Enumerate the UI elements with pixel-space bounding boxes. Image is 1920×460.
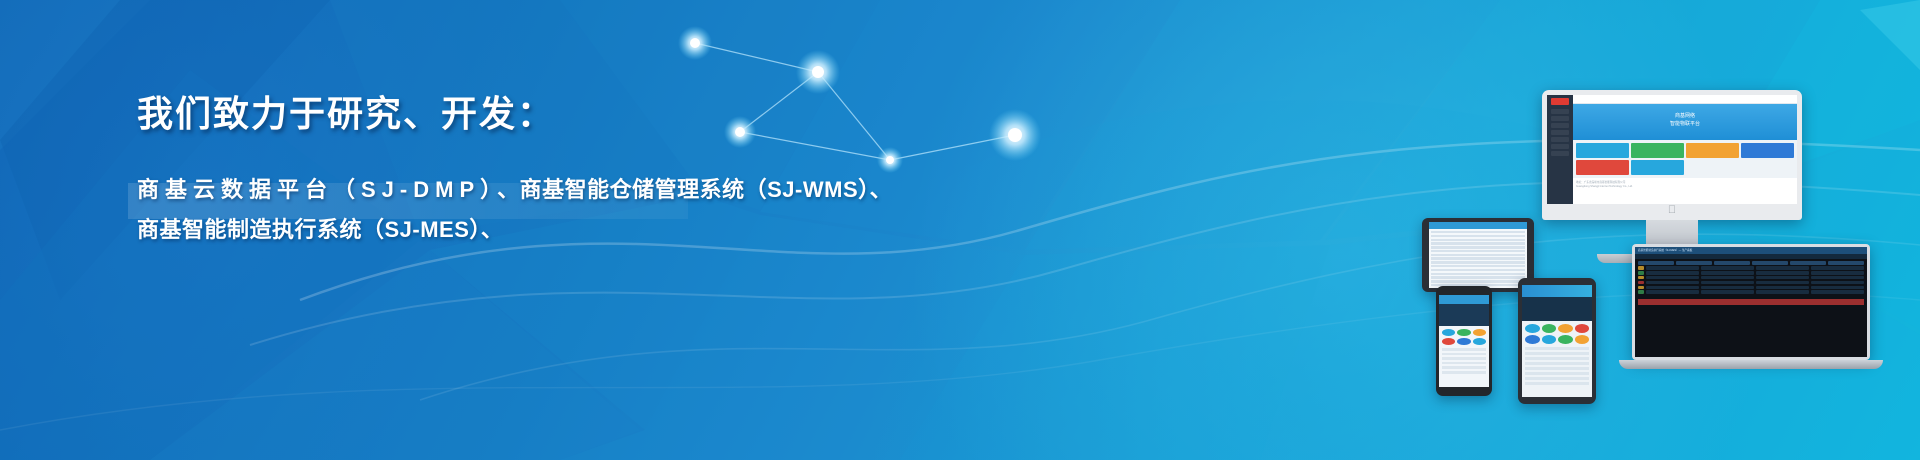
product-line-1: 商基云数据平台（SJ-DMP）、商基智能仓储管理系统（SJ-WMS）、 bbox=[137, 170, 967, 210]
phone-icon-grid bbox=[1439, 326, 1489, 348]
sidebar-item bbox=[1551, 144, 1569, 149]
imac-hero-subtitle: 智能物联平台 bbox=[1573, 120, 1797, 128]
laptop-screen: 商基智能制造执行系统（SJ-MES）— 生产看板 bbox=[1635, 247, 1867, 357]
app-icon bbox=[1542, 324, 1557, 333]
list-item bbox=[1431, 235, 1525, 237]
page-title: 我们致力于研究、开发： bbox=[137, 92, 967, 136]
laptop-titlebar: 商基智能制造执行系统（SJ-MES）— 生产看板 bbox=[1635, 247, 1867, 254]
app-icon bbox=[1473, 338, 1486, 345]
list-item bbox=[1431, 239, 1525, 241]
table-cell bbox=[1756, 271, 1809, 274]
imac-footer-en: Guangdong Shangji Internet Technology Co… bbox=[1576, 185, 1794, 189]
table-cell bbox=[1701, 276, 1754, 279]
status-badge bbox=[1638, 276, 1644, 279]
table-header-cell bbox=[1714, 261, 1750, 265]
table-cell bbox=[1701, 286, 1754, 289]
table-header-cell bbox=[1752, 261, 1788, 265]
list-item bbox=[1442, 362, 1486, 365]
imac-tile bbox=[1686, 143, 1739, 158]
table-header-cell bbox=[1676, 261, 1712, 265]
table-cell bbox=[1646, 281, 1699, 284]
table-cell bbox=[1811, 266, 1864, 269]
table-header-cell bbox=[1828, 261, 1864, 265]
status-badge bbox=[1638, 266, 1644, 269]
list-item bbox=[1431, 254, 1525, 256]
imac-sidebar bbox=[1547, 95, 1573, 204]
phone-list bbox=[1439, 348, 1489, 374]
sidebar-item bbox=[1551, 137, 1569, 142]
list-item bbox=[1431, 276, 1525, 278]
tablet-landscape-header bbox=[1429, 222, 1527, 229]
sidebar-item bbox=[1551, 116, 1569, 121]
list-item bbox=[1525, 372, 1589, 375]
table-row bbox=[1638, 281, 1864, 284]
table-cell bbox=[1756, 276, 1809, 279]
app-icon bbox=[1457, 329, 1470, 336]
list-item bbox=[1442, 371, 1486, 374]
imac-mockup: 商基网络 智能物联平台 bbox=[1542, 90, 1802, 263]
imac-tile-grid bbox=[1573, 140, 1797, 178]
imac-screen: 商基网络 智能物联平台 bbox=[1547, 95, 1797, 204]
phone-header bbox=[1439, 295, 1489, 304]
imac-hero-title: 商基网络 bbox=[1573, 112, 1797, 120]
laptop-mockup: 商基智能制造执行系统（SJ-MES）— 生产看板 bbox=[1632, 244, 1870, 369]
laptop-alert-bar bbox=[1638, 299, 1864, 305]
list-item bbox=[1525, 367, 1589, 370]
list-item bbox=[1431, 257, 1525, 259]
list-item bbox=[1442, 353, 1486, 356]
banner-copy: 我们致力于研究、开发： 商基云数据平台（SJ-DMP）、商基智能仓储管理系统（S… bbox=[137, 92, 967, 250]
imac-footer: 地址：广东省深圳市商基智能科技有限公司 Guangdong Shangji In… bbox=[1573, 178, 1797, 204]
table-row bbox=[1638, 286, 1864, 289]
tablet-portrait-hero bbox=[1522, 297, 1592, 321]
product-line-1-lead: 商基云数据平台（SJ-DMP） bbox=[137, 177, 497, 202]
product-line-1-rest: 、商基智能仓储管理系统（SJ-WMS）、 bbox=[497, 177, 892, 202]
list-item bbox=[1525, 382, 1589, 385]
tablet-portrait-list bbox=[1522, 347, 1592, 385]
list-item bbox=[1431, 280, 1525, 282]
table-cell bbox=[1811, 271, 1864, 274]
tablet-portrait-screen bbox=[1522, 285, 1592, 397]
status-badge bbox=[1638, 271, 1644, 274]
imac-main: 商基网络 智能物联平台 bbox=[1573, 95, 1797, 204]
hero-banner: 我们致力于研究、开发： 商基云数据平台（SJ-DMP）、商基智能仓储管理系统（S… bbox=[0, 0, 1920, 460]
list-item bbox=[1525, 377, 1589, 380]
imac-topbar bbox=[1573, 95, 1797, 104]
table-cell bbox=[1646, 290, 1699, 293]
imac-tile bbox=[1741, 143, 1794, 158]
table-row bbox=[1638, 266, 1864, 269]
tablet-portrait-mockup bbox=[1518, 278, 1596, 404]
device-mockup-cluster: 商基网络 智能物联平台 bbox=[1332, 40, 1892, 460]
table-cell bbox=[1811, 290, 1864, 293]
app-icon bbox=[1558, 324, 1573, 333]
imac-tile-empty bbox=[1686, 160, 1739, 175]
app-icon bbox=[1525, 335, 1540, 344]
imac-bezel: 商基网络 智能物联平台 bbox=[1542, 90, 1802, 220]
app-icon bbox=[1542, 335, 1557, 344]
table-cell bbox=[1646, 286, 1699, 289]
apple-logo-icon:  bbox=[1547, 205, 1797, 216]
phone-screen bbox=[1439, 295, 1489, 387]
list-item bbox=[1525, 347, 1589, 350]
imac-tile-empty bbox=[1741, 160, 1794, 175]
tablet-landscape-screen bbox=[1429, 222, 1527, 288]
table-cell bbox=[1701, 271, 1754, 274]
imac-tile bbox=[1576, 143, 1629, 158]
product-line-2: 商基智能制造执行系统（SJ-MES）、 bbox=[137, 210, 967, 250]
app-icon bbox=[1525, 324, 1540, 333]
list-item bbox=[1431, 273, 1525, 275]
status-badge bbox=[1638, 290, 1644, 293]
list-item bbox=[1431, 269, 1525, 271]
list-item bbox=[1525, 352, 1589, 355]
app-icon bbox=[1575, 324, 1590, 333]
table-header-row bbox=[1638, 261, 1864, 265]
table-cell bbox=[1646, 276, 1699, 279]
sidebar-item bbox=[1551, 109, 1569, 114]
tablet-portrait-icon-grid bbox=[1522, 321, 1592, 347]
list-item bbox=[1442, 366, 1486, 369]
table-cell bbox=[1701, 281, 1754, 284]
imac-tile bbox=[1631, 143, 1684, 158]
phone-hero bbox=[1439, 304, 1489, 326]
laptop-table bbox=[1635, 259, 1867, 297]
table-cell bbox=[1646, 266, 1699, 269]
sidebar-item bbox=[1551, 151, 1569, 156]
table-cell bbox=[1811, 276, 1864, 279]
table-cell bbox=[1646, 271, 1699, 274]
list-item bbox=[1431, 250, 1525, 252]
table-header-cell bbox=[1790, 261, 1826, 265]
sidebar-item bbox=[1551, 130, 1569, 135]
sidebar-item bbox=[1551, 123, 1569, 128]
tablet-portrait-header bbox=[1522, 285, 1592, 297]
table-cell bbox=[1811, 286, 1864, 289]
list-item bbox=[1442, 348, 1486, 351]
table-row bbox=[1638, 276, 1864, 279]
app-icon bbox=[1442, 329, 1455, 336]
app-icon bbox=[1575, 335, 1590, 344]
laptop-lid: 商基智能制造执行系统（SJ-MES）— 生产看板 bbox=[1632, 244, 1870, 360]
imac-logo bbox=[1551, 98, 1569, 105]
tablet-landscape-rows bbox=[1429, 229, 1527, 288]
list-item bbox=[1525, 362, 1589, 365]
status-badge bbox=[1638, 286, 1644, 289]
app-icon bbox=[1558, 335, 1573, 344]
table-cell bbox=[1756, 290, 1809, 293]
table-cell bbox=[1811, 281, 1864, 284]
list-item bbox=[1431, 231, 1525, 233]
phone-body bbox=[1436, 286, 1492, 396]
status-badge bbox=[1638, 281, 1644, 284]
table-row bbox=[1638, 290, 1864, 293]
table-cell bbox=[1701, 290, 1754, 293]
list-item bbox=[1431, 261, 1525, 263]
list-item bbox=[1431, 242, 1525, 244]
table-cell bbox=[1756, 266, 1809, 269]
tablet-portrait-body bbox=[1518, 278, 1596, 404]
imac-hero: 商基网络 智能物联平台 bbox=[1573, 104, 1797, 140]
app-icon bbox=[1442, 338, 1455, 345]
app-icon bbox=[1457, 338, 1470, 345]
table-header-cell bbox=[1638, 261, 1674, 265]
table-cell bbox=[1701, 266, 1754, 269]
table-cell bbox=[1756, 281, 1809, 284]
imac-tile bbox=[1576, 160, 1629, 175]
imac-tile bbox=[1631, 160, 1684, 175]
phone-mockup bbox=[1436, 286, 1492, 396]
list-item bbox=[1442, 357, 1486, 360]
table-cell bbox=[1756, 286, 1809, 289]
app-icon bbox=[1473, 329, 1486, 336]
list-item bbox=[1525, 357, 1589, 360]
list-item bbox=[1431, 246, 1525, 248]
laptop-base bbox=[1619, 360, 1883, 369]
table-row bbox=[1638, 271, 1864, 274]
product-list: 商基云数据平台（SJ-DMP）、商基智能仓储管理系统（SJ-WMS）、 商基智能… bbox=[137, 170, 967, 250]
list-item bbox=[1431, 265, 1525, 267]
